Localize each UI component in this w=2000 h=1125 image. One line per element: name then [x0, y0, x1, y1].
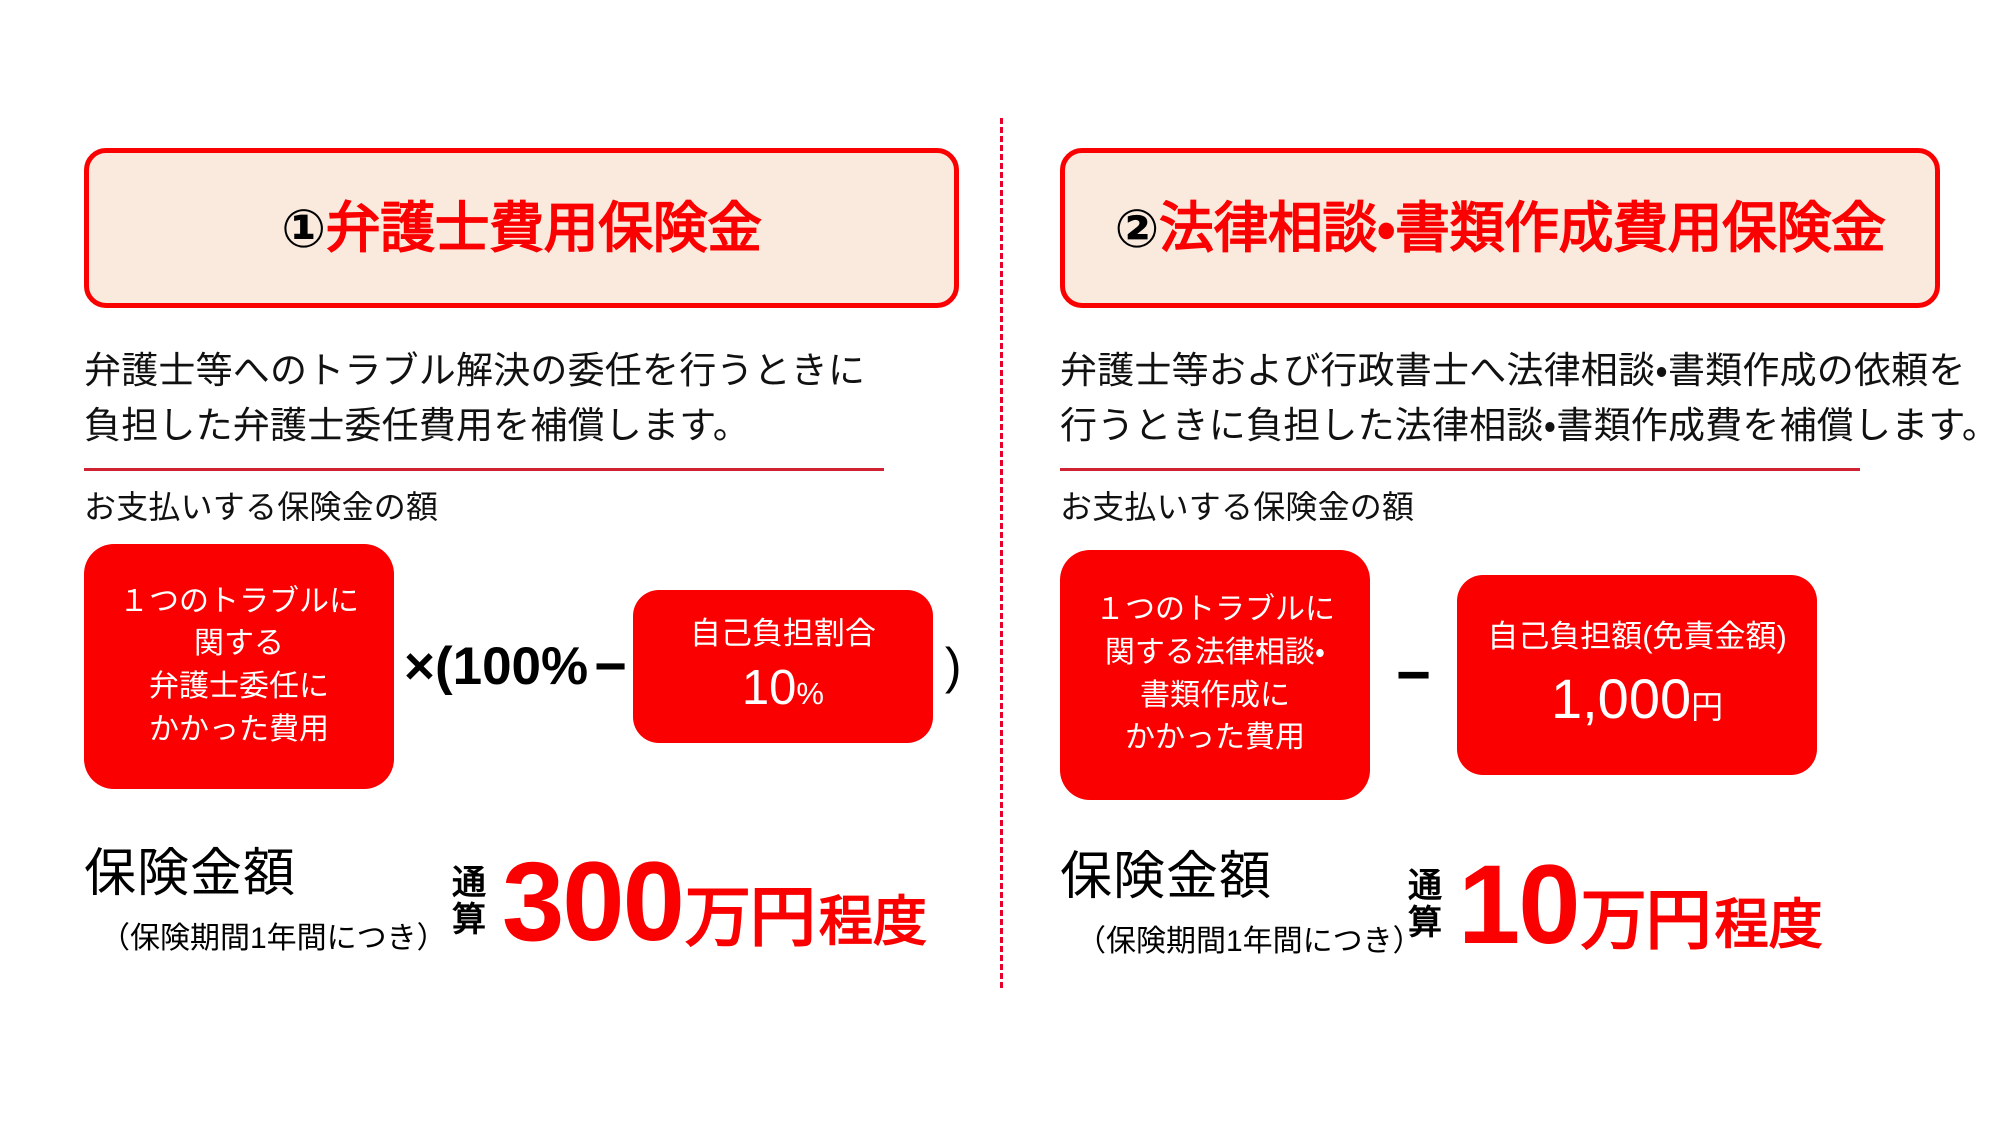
minus-operator-1: −: [594, 638, 627, 694]
cost-box-1: １つのトラブルに 関する 弁護士委任に かかった費用: [84, 544, 394, 789]
closing-paren-1: ): [945, 641, 962, 691]
amount-tail-2: 程度: [1715, 900, 1823, 951]
amount-tail-1: 程度: [819, 897, 927, 948]
cost-box-line: 関する法律相談・: [1105, 632, 1325, 675]
panel-title-main-1: 弁護士費用保険金: [326, 197, 762, 259]
deductible-unit-1: %: [796, 676, 824, 711]
cumulative-label-1: 通 算: [452, 865, 486, 938]
panel-legal-consult-fee: ②法律相談・書類作成費用保険金 弁護士等および行政書士へ法律相談・書類作成の依頼…: [1000, 0, 2000, 1125]
cost-box-2: １つのトラブルに 関する法律相談・ 書類作成に かかった費用: [1060, 550, 1370, 800]
deductible-number-2: 1,000: [1551, 667, 1691, 730]
cost-box-line: 弁護士委任に: [149, 666, 329, 709]
cost-box-line: １つのトラブルに: [1095, 589, 1335, 632]
amount-value-2: 10 万円 程度: [1458, 852, 1823, 958]
description-line: 弁護士等へのトラブル解決の委任を行うときに: [84, 344, 1000, 399]
deductible-value-1: 10%: [742, 660, 824, 716]
panel-title-number-1: ①: [281, 200, 325, 259]
deductible-box-1: 自己負担割合 10%: [633, 590, 933, 743]
panel-divider: [1000, 118, 1003, 988]
panel-lawyer-fee: ①弁護士費用保険金 弁護士等へのトラブル解決の委任を行うときに 負担した弁護士委…: [0, 0, 1000, 1125]
amount-row-1: 保険金額 （保険期間1年間につき） 通 算 300 万円 程度: [84, 847, 1000, 958]
amount-row-2: 保険金額 （保険期間1年間につき） 通 算 10 万円 程度: [1060, 850, 2000, 961]
amount-sublabel-2: （保険期間1年間につき）: [1076, 916, 1423, 960]
formula-row-2: １つのトラブルに 関する法律相談・ 書類作成に かかった費用 − 自己負担額(免…: [1060, 550, 2000, 800]
description-line: 弁護士等および行政書士へ法律相談・書類作成の依頼を: [1060, 344, 2000, 399]
amount-unit-1: 万円: [685, 886, 815, 949]
panel-description-1: 弁護士等へのトラブル解決の委任を行うときに 負担した弁護士委任費用を補償します。: [84, 344, 1000, 454]
deductible-label-2: 自己負担額(免責金額): [1487, 618, 1787, 655]
divider-rule-1: [84, 468, 884, 471]
cumulative-char-1: 通: [452, 865, 486, 902]
payout-caption-2: お支払いする保険金の額: [1060, 482, 2000, 528]
payout-caption-1: お支払いする保険金の額: [84, 482, 1000, 528]
deductible-number-1: 10: [742, 661, 797, 715]
cost-box-line: かかった費用: [149, 709, 329, 752]
amount-value-1: 300 万円 程度: [502, 849, 927, 955]
description-line: 負担した弁護士委任費用を補償します。: [84, 399, 1000, 454]
amount-title-1: 保険金額: [84, 847, 296, 902]
panel-title-1: ①弁護士費用保険金: [281, 201, 761, 256]
amount-number-2: 10: [1458, 852, 1579, 958]
panel-title-2: ②法律相談・書類作成費用保険金: [1114, 201, 1885, 256]
deductible-unit-2: 円: [1691, 689, 1723, 725]
amount-unit-2: 万円: [1581, 889, 1711, 952]
minus-operator-2: −: [1396, 645, 1431, 705]
cumulative-label-2: 通 算: [1408, 868, 1442, 941]
panel-title-box-2: ②法律相談・書類作成費用保険金: [1060, 148, 1940, 308]
infographic-root: ①弁護士費用保険金 弁護士等へのトラブル解決の委任を行うときに 負担した弁護士委…: [0, 0, 2000, 1125]
cumulative-char-2: 算: [1408, 905, 1442, 942]
cost-box-line: 書類作成に: [1140, 675, 1290, 718]
amount-sublabel-1: （保険期間1年間につき）: [100, 913, 447, 957]
deductible-value-2: 1,000円: [1551, 667, 1723, 731]
deductible-label-1: 自己負担割合: [690, 615, 876, 652]
cost-box-line: 関する: [194, 623, 284, 666]
multiply-operator-1: ×(100%: [404, 640, 588, 693]
formula-row-1: １つのトラブルに 関する 弁護士委任に かかった費用 ×(100% − 自己負担…: [84, 544, 1000, 789]
cumulative-char-1: 通: [1408, 868, 1442, 905]
panel-description-2: 弁護士等および行政書士へ法律相談・書類作成の依頼を 行うときに負担した法律相談・…: [1060, 344, 2000, 454]
description-line: 行うときに負担した法律相談・書類作成費を補償します。: [1060, 399, 2000, 454]
panel-title-number-2: ②: [1114, 200, 1158, 259]
cost-box-line: １つのトラブルに: [119, 581, 359, 624]
panel-title-main-2: 法律相談・書類作成費用保険金: [1159, 197, 1886, 259]
amount-number-1: 300: [502, 849, 683, 955]
amount-label-block-2: 保険金額 （保険期間1年間につき）: [1060, 850, 1408, 961]
amount-title-2: 保険金額: [1060, 850, 1272, 905]
cumulative-char-2: 算: [452, 902, 486, 939]
divider-rule-2: [1060, 468, 1860, 471]
cost-box-line: かかった費用: [1125, 717, 1305, 760]
panel-title-box-1: ①弁護士費用保険金: [84, 148, 959, 308]
deductible-box-2: 自己負担額(免責金額) 1,000円: [1457, 575, 1817, 775]
amount-label-block-1: 保険金額 （保険期間1年間につき）: [84, 847, 452, 958]
